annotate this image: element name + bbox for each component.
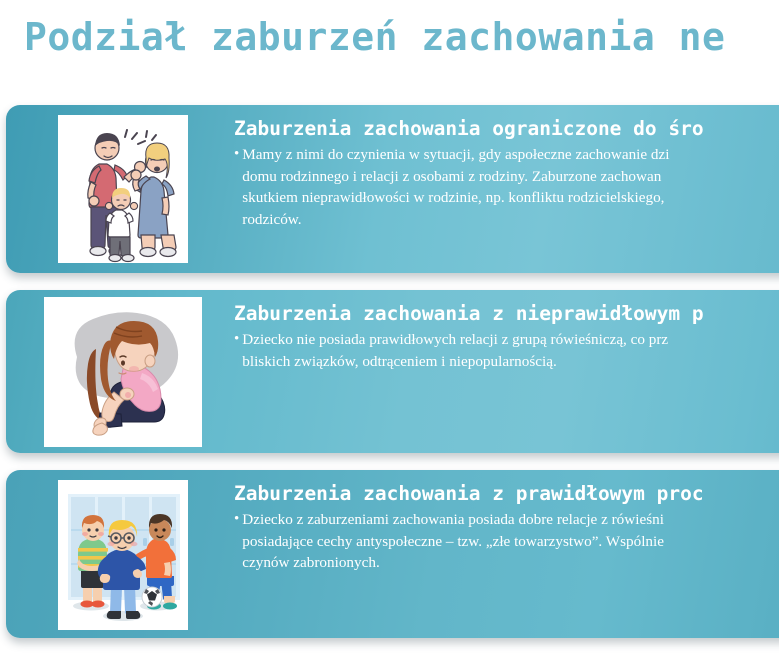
card-bullet: • Mamy z nimi do czynienia w sytuacji, g… <box>234 144 779 230</box>
bullet-marker-icon: • <box>234 509 242 531</box>
boys-at-lockers-illustration <box>58 480 188 630</box>
card-bullet: • Dziecko nie posiada prawidłowych relac… <box>234 329 779 372</box>
bullet-marker-icon: • <box>234 144 242 166</box>
bullet-marker-icon: • <box>234 329 242 351</box>
card-inner: Zaburzenia zachowania ograniczone do śro… <box>6 105 779 273</box>
card-heading: Zaburzenia zachowania ograniczone do śro <box>234 117 779 141</box>
card-heading: Zaburzenia zachowania z nieprawidłowym p <box>234 302 779 326</box>
card-ograniczone-do-srodowiska[interactable]: Zaburzenia zachowania ograniczone do śro… <box>6 105 779 273</box>
sad-girl-illustration <box>44 297 202 447</box>
card-prawidlowy-proces[interactable]: Zaburzenia zachowania z prawidłowym proc… <box>6 470 779 638</box>
card-text-column: Zaburzenia zachowania ograniczone do śro… <box>234 117 779 230</box>
sad-girl-svg <box>44 297 202 447</box>
family-arguing-svg <box>58 115 188 263</box>
card-body-text: Dziecko nie posiada prawidłowych relacji… <box>242 329 668 372</box>
page-title: Podział zaburzeń zachowania ne <box>24 18 779 56</box>
card-text-column: Zaburzenia zachowania z nieprawidłowym p… <box>234 302 779 372</box>
card-body-text: Dziecko z zaburzeniami zachowania posiad… <box>242 509 664 574</box>
card-bullet: • Dziecko z zaburzeniami zachowania posi… <box>234 509 779 574</box>
card-inner: Zaburzenia zachowania z prawidłowym proc… <box>6 470 779 638</box>
card-inner: Zaburzenia zachowania z nieprawidłowym p… <box>6 290 779 453</box>
card-text-column: Zaburzenia zachowania z prawidłowym proc… <box>234 482 779 574</box>
card-nieprawidlowy-proces[interactable]: Zaburzenia zachowania z nieprawidłowym p… <box>6 290 779 453</box>
family-arguing-illustration <box>58 115 188 263</box>
card-body-text: Mamy z nimi do czynienia w sytuacji, gdy… <box>242 144 669 230</box>
boys-at-lockers-svg <box>58 480 188 630</box>
card-heading: Zaburzenia zachowania z prawidłowym proc <box>234 482 779 506</box>
